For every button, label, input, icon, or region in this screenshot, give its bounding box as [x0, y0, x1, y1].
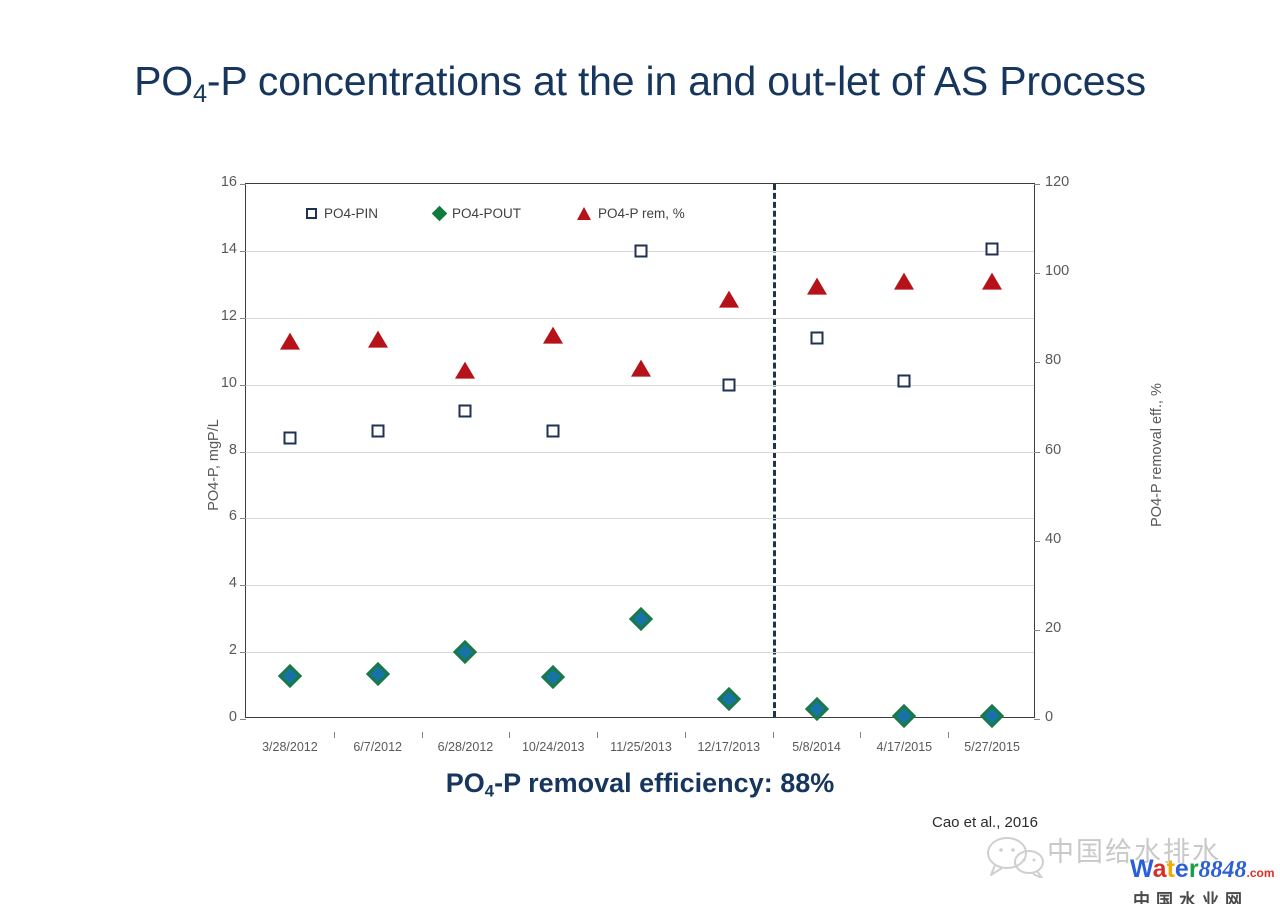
- y-axis-tick-mark: [240, 652, 246, 653]
- y2-axis-tick-mark: [1034, 273, 1040, 274]
- logo-dotcom: .com: [1247, 866, 1275, 880]
- data-point-open-square: [371, 425, 384, 438]
- watermark-cn-title: 中国给水排水: [1047, 830, 1221, 869]
- logo-letter-t: t: [1167, 855, 1175, 883]
- chart-legend: PO4-PINPO4-POUTPO4-P rem, %: [306, 206, 685, 221]
- data-point-filled-diamond: [629, 607, 653, 631]
- y2-axis-tick-label: 120: [1034, 174, 1069, 190]
- caption-prefix: PO: [446, 768, 485, 798]
- caption-subscript: 4: [485, 782, 494, 801]
- logo-letter-a: a: [1153, 855, 1167, 883]
- watermark: 中国给水排水 Water8848.com 中国水业网: [985, 828, 1275, 900]
- legend-label: PO4-PIN: [324, 206, 378, 221]
- x-axis-tick-label: 6/28/2012: [438, 740, 494, 754]
- phase-divider-line: [773, 184, 776, 717]
- title-suffix: -P concentrations at the in and out-let …: [207, 58, 1146, 104]
- x-axis-tick-label: 4/17/2015: [877, 740, 933, 754]
- wechat-bubble-icon: [985, 836, 1047, 883]
- y2-axis-tick-label: 20: [1034, 620, 1061, 636]
- x-axis-tick-mark: [685, 732, 686, 738]
- logo-letter-w: W: [1130, 855, 1153, 883]
- x-axis-tick-label: 10/24/2013: [522, 740, 585, 754]
- legend-item-0[interactable]: PO4-PIN: [306, 206, 378, 221]
- y-axis-tick-label: 2: [229, 642, 246, 658]
- data-point-filled-triangle: [631, 360, 651, 377]
- y-axis-tick-mark: [240, 518, 246, 519]
- y2-axis-tick-label: 0: [1034, 709, 1053, 725]
- x-axis-tick-mark: [422, 732, 423, 738]
- y-axis-tick-label: 6: [229, 508, 246, 524]
- legend-label: PO4-P rem, %: [598, 206, 685, 221]
- data-point-filled-triangle: [455, 362, 475, 379]
- x-axis-tick-mark: [597, 732, 598, 738]
- y-axis-tick-label: 12: [221, 308, 246, 324]
- plot-area: PO4-PINPO4-POUTPO4-P rem, % 024681012141…: [245, 183, 1035, 718]
- data-point-open-square: [635, 244, 648, 257]
- y2-axis-tick-label: 60: [1034, 442, 1061, 458]
- y2-axis-tick-label: 40: [1034, 531, 1061, 547]
- x-axis-tick-mark: [948, 732, 949, 738]
- legend-swatch-filled-triangle-icon: [577, 207, 591, 220]
- data-point-filled-diamond: [717, 687, 741, 711]
- data-point-filled-triangle: [894, 273, 914, 290]
- y2-axis-tick-mark: [1034, 184, 1040, 185]
- chart-container: PO4-P, mgP/L PO4-P removal eff., % PO4-P…: [160, 170, 1150, 760]
- y-axis-tick-mark: [240, 719, 246, 720]
- y-axis-tick-mark: [240, 385, 246, 386]
- gridline: [246, 452, 1034, 453]
- chart-caption: PO4-P removal efficiency: 88%: [0, 768, 1280, 802]
- legend-item-2[interactable]: PO4-P rem, %: [577, 206, 685, 221]
- gridline: [246, 518, 1034, 519]
- data-point-filled-diamond: [366, 662, 390, 686]
- data-point-filled-diamond: [278, 664, 302, 688]
- y-axis-tick-label: 4: [229, 575, 246, 591]
- gridline: [246, 318, 1034, 319]
- x-axis-tick-label: 3/28/2012: [262, 740, 318, 754]
- y-axis-tick-mark: [240, 184, 246, 185]
- caption-suffix: -P removal efficiency: 88%: [494, 768, 834, 798]
- y2-axis-title: PO4-P removal eff., %: [1149, 383, 1165, 527]
- legend-swatch-filled-diamond-icon: [432, 206, 448, 222]
- data-point-filled-diamond: [805, 697, 829, 721]
- logo-letter-e: e: [1175, 855, 1189, 883]
- x-axis-tick-label: 11/25/2013: [610, 740, 672, 754]
- data-point-open-square: [898, 375, 911, 388]
- watermark-cn-subtitle: 中国水业网: [1133, 886, 1248, 904]
- data-point-open-square: [459, 405, 472, 418]
- data-point-filled-diamond: [541, 665, 565, 689]
- data-point-open-square: [986, 243, 999, 256]
- watermark-logo: Water8848.com: [1130, 857, 1275, 882]
- y-axis-tick-label: 16: [221, 174, 246, 190]
- data-point-filled-triangle: [368, 331, 388, 348]
- page-title: PO4-P concentrations at the in and out-l…: [0, 58, 1280, 109]
- y-axis-tick-label: 14: [221, 241, 246, 257]
- y-axis-title: PO4-P, mgP/L: [206, 419, 222, 511]
- y-axis-tick-mark: [240, 251, 246, 252]
- legend-swatch-open-square-icon: [306, 208, 317, 219]
- y-axis-tick-mark: [240, 585, 246, 586]
- x-axis-tick-label: 5/27/2015: [964, 740, 1020, 754]
- y-axis-tick-mark: [240, 318, 246, 319]
- x-axis-tick-label: 6/7/2012: [353, 740, 402, 754]
- y2-axis-tick-label: 100: [1034, 263, 1069, 279]
- y2-axis-tick-mark: [1034, 541, 1040, 542]
- legend-item-1[interactable]: PO4-POUT: [434, 206, 521, 221]
- data-point-open-square: [722, 378, 735, 391]
- logo-letter-r: r: [1189, 855, 1199, 883]
- x-axis-tick-label: 12/17/2013: [697, 740, 760, 754]
- title-subscript: 4: [193, 80, 207, 108]
- logo-number: 8848: [1199, 857, 1247, 883]
- y-axis-tick-label: 8: [229, 442, 246, 458]
- x-axis-tick-mark: [509, 732, 510, 738]
- slide-canvas: PO4-P concentrations at the in and out-l…: [0, 0, 1280, 904]
- y2-axis-tick-mark: [1034, 362, 1040, 363]
- data-point-filled-diamond: [980, 704, 1004, 728]
- data-point-filled-triangle: [982, 273, 1002, 290]
- y2-axis-tick-label: 80: [1034, 352, 1061, 368]
- y2-axis-tick-mark: [1034, 719, 1040, 720]
- data-point-open-square: [283, 432, 296, 445]
- title-prefix: PO: [134, 58, 193, 104]
- y-axis-tick-label: 0: [229, 709, 246, 725]
- data-point-open-square: [547, 425, 560, 438]
- y2-axis-tick-mark: [1034, 630, 1040, 631]
- citation-text: Cao et al., 2016: [932, 814, 1038, 831]
- legend-label: PO4-POUT: [452, 206, 521, 221]
- data-point-filled-diamond: [453, 640, 477, 664]
- y-axis-tick-label: 10: [221, 375, 246, 391]
- x-axis-tick-mark: [773, 732, 774, 738]
- x-axis-tick-label: 5/8/2014: [792, 740, 841, 754]
- y-axis-tick-mark: [240, 452, 246, 453]
- gridline: [246, 385, 1034, 386]
- data-point-filled-triangle: [543, 326, 563, 343]
- x-axis-tick-mark: [860, 732, 861, 738]
- data-point-open-square: [810, 331, 823, 344]
- y2-axis-tick-mark: [1034, 452, 1040, 453]
- data-point-filled-triangle: [807, 277, 827, 294]
- data-point-filled-triangle: [719, 291, 739, 308]
- gridline: [246, 652, 1034, 653]
- data-point-filled-diamond: [892, 704, 916, 728]
- data-point-filled-triangle: [280, 333, 300, 350]
- x-axis-tick-mark: [334, 732, 335, 738]
- gridline: [246, 585, 1034, 586]
